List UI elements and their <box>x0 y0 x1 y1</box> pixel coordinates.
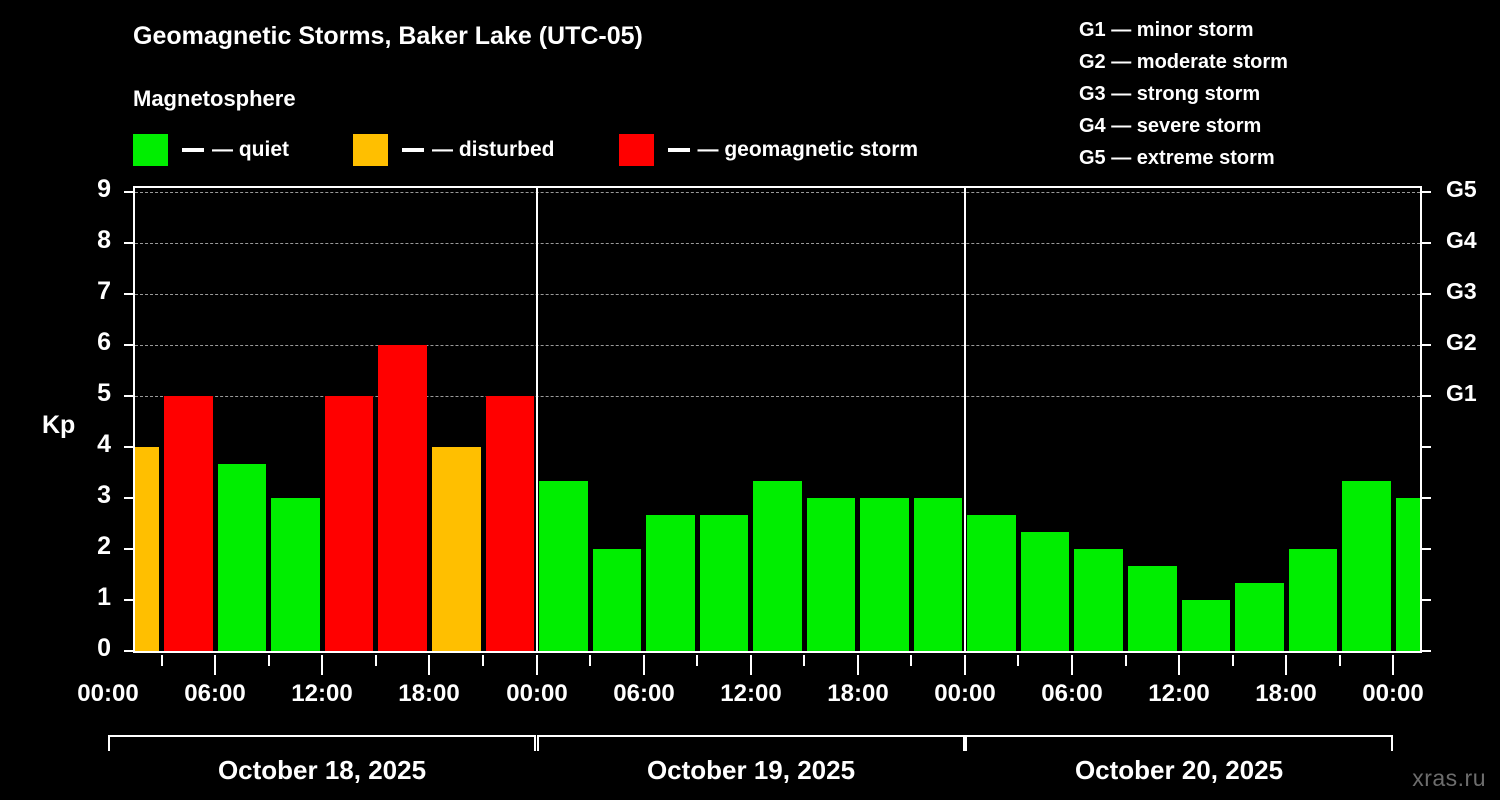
x-tick-label: 12:00 <box>720 680 781 708</box>
x-tick-major <box>1392 655 1394 675</box>
y-tick-label: 2 <box>71 532 111 561</box>
day-label: October 20, 2025 <box>1075 755 1283 786</box>
gridline-kp-8 <box>135 243 1420 244</box>
gridline-kp-6 <box>135 345 1420 346</box>
x-tick-label: 12:00 <box>1148 680 1209 708</box>
bar <box>967 515 1016 651</box>
bar <box>646 515 695 651</box>
g-scale-legend: G1 — minor storm G2 — moderate storm G3 … <box>1079 14 1288 174</box>
x-tick-minor <box>268 655 270 666</box>
x-tick-label: 06:00 <box>613 680 674 708</box>
y-tick-label: 5 <box>71 379 111 408</box>
x-tick-label: 18:00 <box>398 680 459 708</box>
y-tick-5 <box>124 395 133 397</box>
page-title: Geomagnetic Storms, Baker Lake (UTC-05) <box>133 22 643 51</box>
y-tick-0 <box>124 650 133 652</box>
plot-inner <box>135 188 1420 651</box>
bar <box>1074 549 1123 651</box>
y-tick-label: 7 <box>71 277 111 306</box>
y-tick-label: 8 <box>71 226 111 255</box>
bar <box>1396 498 1420 651</box>
g-minor-tick <box>1422 599 1431 601</box>
x-tick-label: 00:00 <box>77 680 138 708</box>
legend-label-storm: — geomagnetic storm <box>698 133 919 167</box>
x-tick-minor <box>910 655 912 666</box>
legend-swatch-quiet <box>133 134 168 166</box>
day-separator-1 <box>536 188 538 651</box>
legend-swatch-disturbed <box>353 134 388 166</box>
day-bracket <box>108 735 536 751</box>
y-tick-label: 6 <box>71 328 111 357</box>
bar <box>860 498 909 651</box>
plot-area <box>133 186 1422 653</box>
y-tick-1 <box>124 599 133 601</box>
x-tick-major <box>321 655 323 675</box>
x-tick-minor <box>1232 655 1234 666</box>
x-tick-major <box>428 655 430 675</box>
x-tick-minor <box>482 655 484 666</box>
x-tick-major <box>1071 655 1073 675</box>
x-tick-label: 00:00 <box>1362 680 1423 708</box>
bar <box>135 447 159 651</box>
y-tick-9 <box>124 191 133 193</box>
y-tick-label: 1 <box>71 583 111 612</box>
bar <box>1342 481 1391 651</box>
x-tick-major <box>857 655 859 675</box>
x-tick-major <box>643 655 645 675</box>
x-tick-major <box>964 655 966 675</box>
legend-item-storm: — geomagnetic storm <box>619 133 919 167</box>
x-tick-major <box>1285 655 1287 675</box>
x-tick-label: 18:00 <box>1255 680 1316 708</box>
state-legend: — quiet — disturbed — geomagnetic storm <box>133 133 918 167</box>
g-legend-line-g5: G5 — extreme storm <box>1079 142 1288 174</box>
x-tick-major <box>214 655 216 675</box>
g-tick-G5 <box>1422 191 1431 193</box>
bar <box>486 396 535 651</box>
day-bracket <box>537 735 965 751</box>
day-label: October 18, 2025 <box>218 755 426 786</box>
y-tick-2 <box>124 548 133 550</box>
x-tick-major <box>1178 655 1180 675</box>
y-tick-8 <box>124 242 133 244</box>
day-bracket <box>965 735 1393 751</box>
g-axis-label: G1 <box>1446 380 1477 407</box>
g-tick-G4 <box>1422 242 1431 244</box>
x-tick-label: 18:00 <box>827 680 888 708</box>
g-axis-label: G2 <box>1446 329 1477 356</box>
y-tick-7 <box>124 293 133 295</box>
legend-item-quiet: — quiet <box>133 133 289 167</box>
g-legend-line-g1: G1 — minor storm <box>1079 14 1288 46</box>
bar <box>700 515 749 651</box>
y-tick-label: 9 <box>71 175 111 204</box>
x-tick-minor <box>589 655 591 666</box>
x-tick-minor <box>696 655 698 666</box>
g-axis-label: G5 <box>1446 176 1477 203</box>
bar <box>378 345 427 651</box>
bar <box>271 498 320 651</box>
bar <box>325 396 374 651</box>
legend-dash-icon <box>402 148 424 152</box>
bar <box>807 498 856 651</box>
x-tick-label: 06:00 <box>184 680 245 708</box>
g-legend-line-g4: G4 — severe storm <box>1079 110 1288 142</box>
x-tick-major <box>536 655 538 675</box>
x-tick-minor <box>1339 655 1341 666</box>
bar <box>539 481 588 651</box>
x-tick-label: 00:00 <box>934 680 995 708</box>
g-minor-tick <box>1422 497 1431 499</box>
g-axis-label: G3 <box>1446 278 1477 305</box>
y-tick-3 <box>124 497 133 499</box>
bar <box>593 549 642 651</box>
bar <box>432 447 481 651</box>
g-axis-label: G4 <box>1446 227 1477 254</box>
x-tick-minor <box>375 655 377 666</box>
x-tick-label: 12:00 <box>291 680 352 708</box>
bar <box>1182 600 1231 651</box>
y-tick-4 <box>124 446 133 448</box>
x-tick-major <box>750 655 752 675</box>
g-tick-G3 <box>1422 293 1431 295</box>
bar <box>1128 566 1177 651</box>
g-tick-G2 <box>1422 344 1431 346</box>
gridline-kp-9 <box>135 192 1420 193</box>
x-tick-minor <box>1125 655 1127 666</box>
x-tick-minor <box>1017 655 1019 666</box>
legend-dash-icon <box>182 148 204 152</box>
legend-item-disturbed: — disturbed <box>353 133 555 167</box>
watermark: xras.ru <box>1412 765 1486 792</box>
chart-canvas: Geomagnetic Storms, Baker Lake (UTC-05) … <box>0 0 1500 800</box>
bar <box>1289 549 1338 651</box>
bar <box>164 396 213 651</box>
g-legend-line-g2: G2 — moderate storm <box>1079 46 1288 78</box>
x-tick-minor <box>803 655 805 666</box>
x-tick-minor <box>161 655 163 666</box>
bar <box>1235 583 1284 651</box>
y-tick-6 <box>124 344 133 346</box>
bar <box>1021 532 1070 651</box>
bar <box>914 498 963 651</box>
g-minor-tick <box>1422 548 1431 550</box>
x-tick-label: 06:00 <box>1041 680 1102 708</box>
legend-swatch-storm <box>619 134 654 166</box>
g-legend-line-g3: G3 — strong storm <box>1079 78 1288 110</box>
g-minor-tick <box>1422 650 1431 652</box>
x-tick-label: 00:00 <box>506 680 567 708</box>
g-minor-tick <box>1422 446 1431 448</box>
g-tick-G1 <box>1422 395 1431 397</box>
legend-dash-icon <box>668 148 690 152</box>
day-label: October 19, 2025 <box>647 755 855 786</box>
legend-label-quiet: — quiet <box>212 133 289 167</box>
legend-label-disturbed: — disturbed <box>432 133 555 167</box>
magnetosphere-label: Magnetosphere <box>133 86 296 112</box>
gridline-kp-7 <box>135 294 1420 295</box>
y-tick-label: 0 <box>71 634 111 663</box>
y-tick-label: 3 <box>71 481 111 510</box>
bar <box>753 481 802 651</box>
y-tick-label: 4 <box>71 430 111 459</box>
bar <box>218 464 267 651</box>
day-separator-2 <box>964 188 966 651</box>
